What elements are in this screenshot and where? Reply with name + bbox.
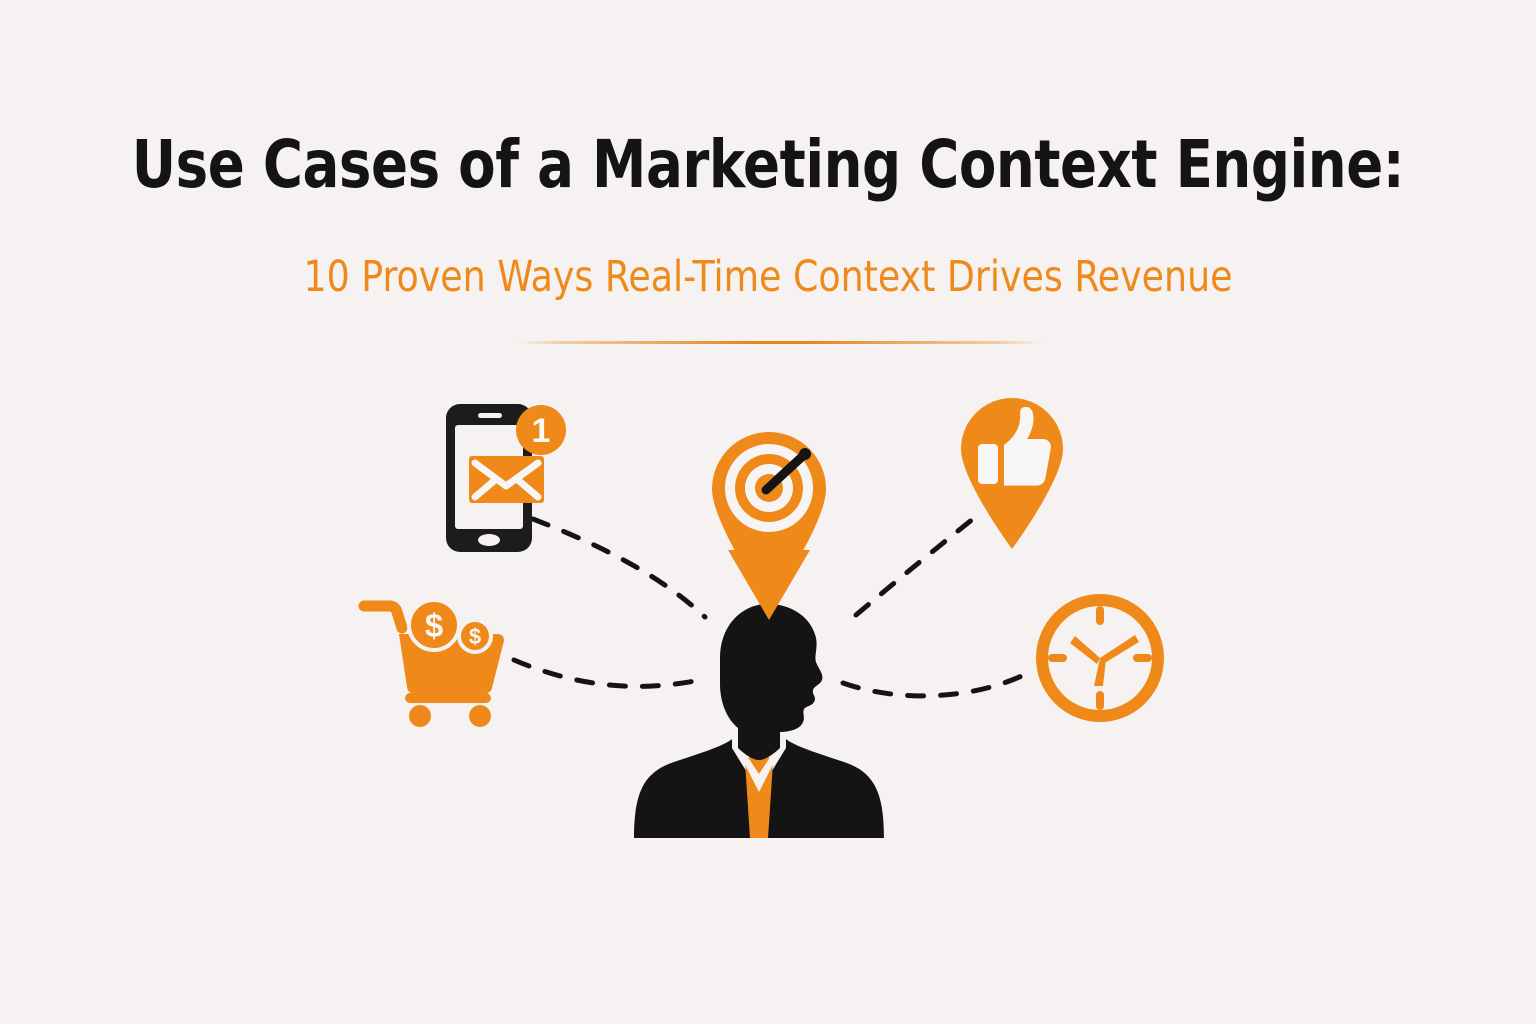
clock-icon[interactable] <box>1030 588 1170 728</box>
target-pin-tip-overlay <box>726 548 812 620</box>
shopping-cart-icon[interactable]: $ $ <box>358 592 523 727</box>
businessman-silhouette <box>628 596 890 844</box>
mobile-email-icon[interactable]: 1 <box>440 398 570 558</box>
head-shape <box>720 604 822 760</box>
coin-large: $ <box>409 600 459 650</box>
thumbs-up-pin-icon[interactable] <box>955 392 1070 552</box>
infographic-canvas: Use Cases of a Marketing Context Engine:… <box>0 0 1536 1024</box>
envelope-shape <box>469 456 544 503</box>
coin-large-symbol: $ <box>425 607 443 644</box>
illustration-stage: 1 $ $ <box>0 0 1536 1024</box>
clock-hands <box>1070 635 1139 686</box>
notification-badge: 1 <box>516 405 566 455</box>
coin-small: $ <box>459 620 491 652</box>
coin-small-symbol: $ <box>469 624 481 649</box>
notification-badge-count: 1 <box>532 412 551 450</box>
